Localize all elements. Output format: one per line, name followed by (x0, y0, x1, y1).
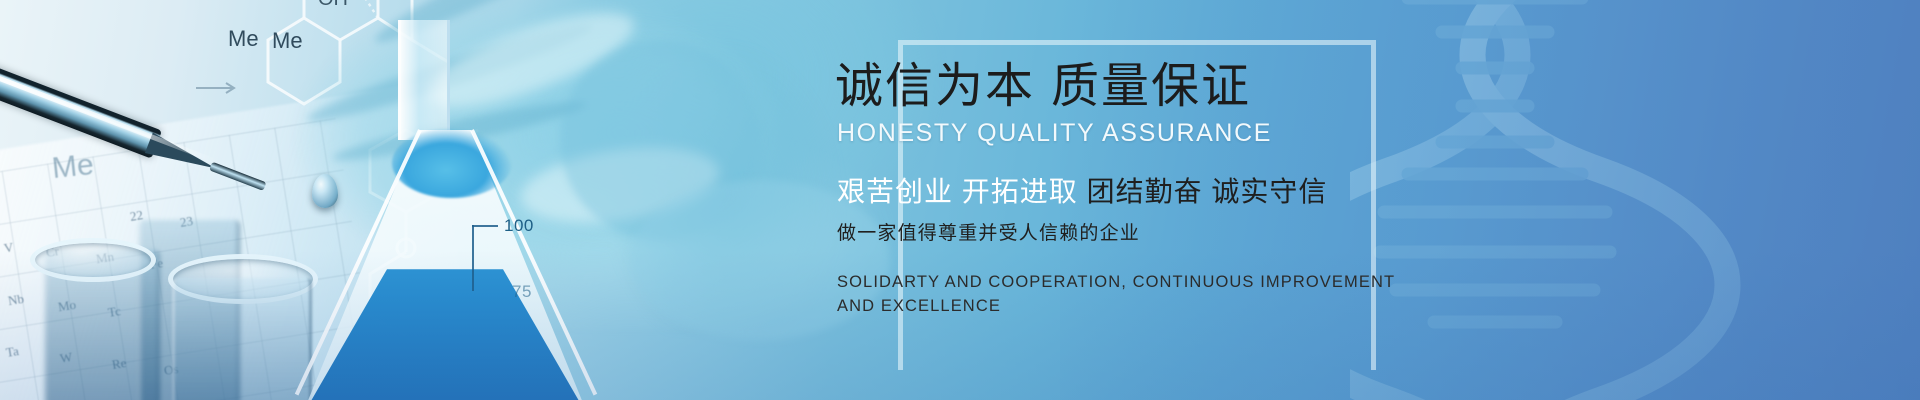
page-title: 诚信为本质量保证 (835, 62, 1535, 113)
footer-english: SOLIDARTY AND COOPERATION, CONTINUOUS IM… (837, 271, 1397, 319)
slogan-seg-4: 诚实守信 (1211, 176, 1327, 207)
footer-english-line-1: SOLIDARTY AND COOPERATION, CONTINUOUS IM… (837, 271, 1397, 295)
headline-part1: 诚信为本 (835, 60, 1035, 113)
arrow-icon (196, 80, 242, 96)
tagline: 做一家值得尊重并受人信赖的企业 (837, 218, 1535, 245)
flask-graduation-label-75: 75 (512, 282, 532, 302)
slogan-seg-1: 艰苦创业 (837, 176, 953, 207)
subtitle-english: HONESTY QUALITY ASSURANCE (837, 119, 1535, 148)
slogan-line: 艰苦创业 开拓进取 团结勤奋 诚实守信 (837, 170, 1535, 210)
jar-rim-left (30, 238, 156, 282)
hero-banner: V Cr Mn Fe Nb Mo Tc Ta W Re Os 22 23 Me … (0, 0, 1920, 400)
slogan-seg-2: 开拓进取 (962, 176, 1078, 207)
erlenmeyer-flask-icon: 100 75 (300, 20, 620, 400)
headline-part2: 质量保证 (1051, 60, 1251, 113)
footer-english-line-2: AND EXCELLENCE (837, 295, 1397, 319)
hero-copy: 诚信为本质量保证 HONESTY QUALITY ASSURANCE 艰苦创业 … (835, 62, 1535, 319)
slogan-seg-3: 团结勤奋 (1087, 176, 1203, 207)
flask-graduation-label: 100 (504, 216, 534, 236)
molecule-label-me-3: Me (50, 148, 95, 186)
